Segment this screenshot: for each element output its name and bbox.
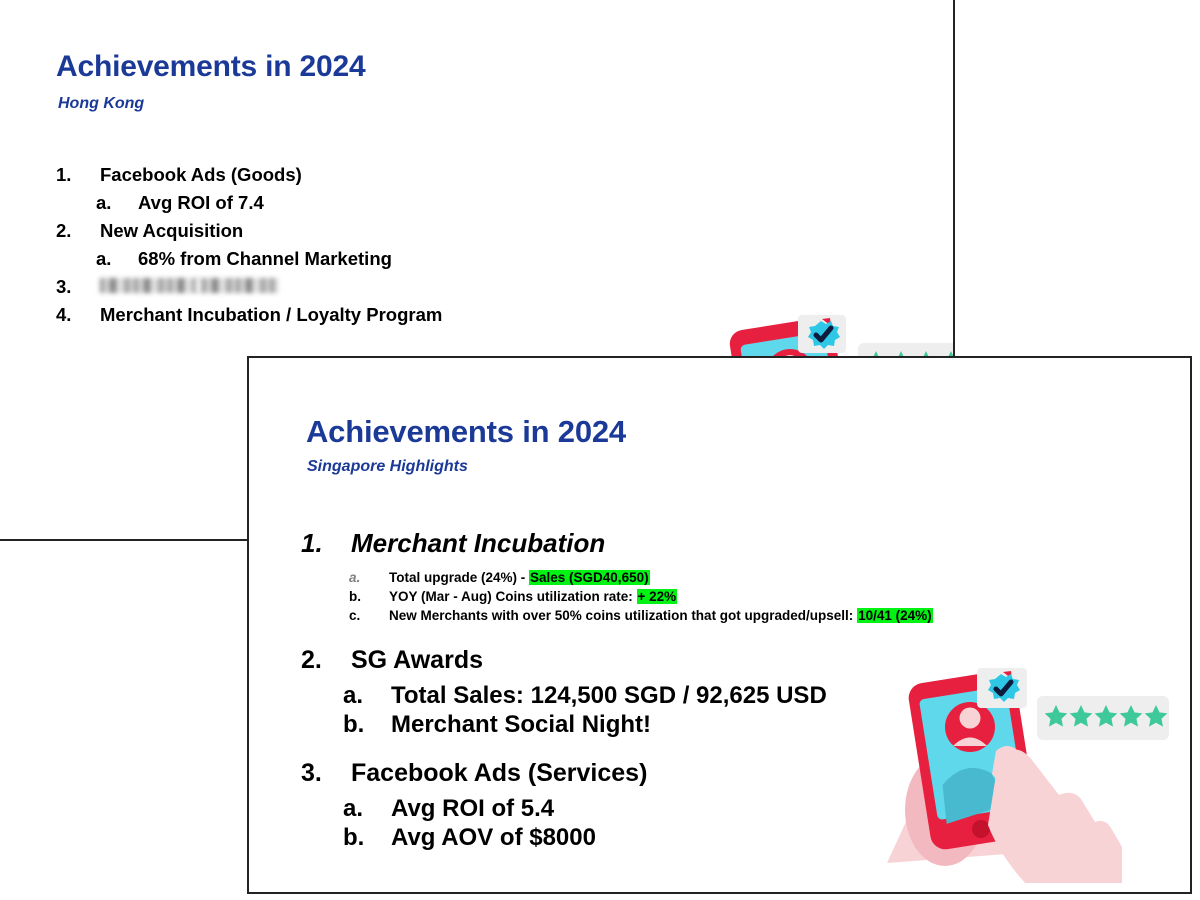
section-heading: 2. SG Awards <box>301 646 827 675</box>
list-item: a. Total Sales: 124,500 SGD / 92,625 USD <box>343 681 827 710</box>
list-text: Facebook Ads (Goods) <box>100 166 302 185</box>
section-title: Merchant Incubation <box>351 528 605 559</box>
list-marker: c. <box>349 606 389 625</box>
list-text-group: New Merchants with over 50% coins utiliz… <box>389 606 933 625</box>
section-sg-awards: 2. SG Awards a. Total Sales: 124,500 SGD… <box>301 646 827 740</box>
slide-singapore-highlights[interactable]: Achievements in 2024 Singapore Highlight… <box>247 356 1192 894</box>
list-text: Merchant Social Night! <box>391 710 651 739</box>
section-merchant-incubation: 1. Merchant Incubation a. Total upgrade … <box>301 528 933 625</box>
list-item: a. Avg ROI of 7.4 <box>56 194 676 213</box>
section-marker: 3. <box>301 759 351 788</box>
list-item: 1. Facebook Ads (Goods) <box>56 166 676 185</box>
list-text: Avg ROI of 5.4 <box>391 794 554 823</box>
list-item: a. Avg ROI of 5.4 <box>343 794 647 823</box>
list-item: 4. Merchant Incubation / Loyalty Program <box>56 306 676 325</box>
list-item: b. Merchant Social Night! <box>343 710 827 739</box>
list-text: Avg ROI of 7.4 <box>138 194 264 213</box>
list-text-group: YOY (Mar - Aug) Coins utilization rate: … <box>389 587 677 606</box>
list-item: b. YOY (Mar - Aug) Coins utilization rat… <box>349 587 933 606</box>
list-marker: 3. <box>56 278 100 297</box>
section-sublist: a. Total upgrade (24%) - Sales (SGD40,65… <box>301 568 933 625</box>
page-title: Achievements in 2024 <box>56 50 366 84</box>
list-item: a. 68% from Channel Marketing <box>56 250 676 269</box>
list-item: a. Total upgrade (24%) - Sales (SGD40,65… <box>349 568 933 587</box>
list-marker: a. <box>343 681 391 710</box>
list-text: New Merchants with over 50% coins utiliz… <box>389 608 857 623</box>
list-marker: a. <box>349 568 389 587</box>
list-marker: 4. <box>56 306 100 325</box>
highlighted-metric: Sales (SGD40,650) <box>529 570 650 585</box>
list-marker: a. <box>343 794 391 823</box>
highlighted-metric: 10/41 (24%) <box>857 608 933 623</box>
page-subtitle: Hong Kong <box>58 95 144 113</box>
list-item: 2. New Acquisition <box>56 222 676 241</box>
phone-review-illustration <box>869 658 1169 883</box>
list-marker: 2. <box>56 222 100 241</box>
section-sublist: a. Avg ROI of 5.4 b. Avg AOV of $8000 <box>301 794 647 853</box>
redacted-text-blur <box>100 278 278 293</box>
list-item: c. New Merchants with over 50% coins uti… <box>349 606 933 625</box>
verified-badge-icon <box>798 315 846 353</box>
list-text-group: Total upgrade (24%) - Sales (SGD40,650) <box>389 568 650 587</box>
list-marker: a. <box>96 250 138 269</box>
list-marker: b. <box>343 823 391 852</box>
list-text: YOY (Mar - Aug) Coins utilization rate: <box>389 589 637 604</box>
page-title: Achievements in 2024 <box>306 414 626 450</box>
list-text: Total upgrade (24%) - <box>389 570 529 585</box>
five-star-rating <box>1037 696 1169 740</box>
list-item: b. Avg AOV of $8000 <box>343 823 647 852</box>
section-facebook-ads-services: 3. Facebook Ads (Services) a. Avg ROI of… <box>301 759 647 853</box>
list-marker: b. <box>349 587 389 606</box>
list-text: New Acquisition <box>100 222 243 241</box>
highlighted-metric: + 22% <box>637 589 678 604</box>
section-title: Facebook Ads (Services) <box>351 759 647 788</box>
section-heading: 1. Merchant Incubation <box>301 528 933 559</box>
list-marker: b. <box>343 710 391 739</box>
section-heading: 3. Facebook Ads (Services) <box>301 759 647 788</box>
list-text: 68% from Channel Marketing <box>138 250 392 269</box>
page-subtitle: Singapore Highlights <box>307 458 468 476</box>
list-text: Total Sales: 124,500 SGD / 92,625 USD <box>391 681 827 710</box>
list-marker: a. <box>96 194 138 213</box>
verified-badge-icon <box>977 668 1027 708</box>
hk-achievements-list: 1. Facebook Ads (Goods) a. Avg ROI of 7.… <box>56 166 676 333</box>
list-item-redacted: 3. <box>56 278 676 297</box>
section-marker: 1. <box>301 528 351 559</box>
hand-holding-phone <box>988 746 1122 883</box>
user-avatar <box>945 702 995 752</box>
list-text: Merchant Incubation / Loyalty Program <box>100 306 442 325</box>
section-title: SG Awards <box>351 646 483 675</box>
list-marker: 1. <box>56 166 100 185</box>
section-marker: 2. <box>301 646 351 675</box>
list-text: Avg AOV of $8000 <box>391 823 596 852</box>
section-sublist: a. Total Sales: 124,500 SGD / 92,625 USD… <box>301 681 827 740</box>
